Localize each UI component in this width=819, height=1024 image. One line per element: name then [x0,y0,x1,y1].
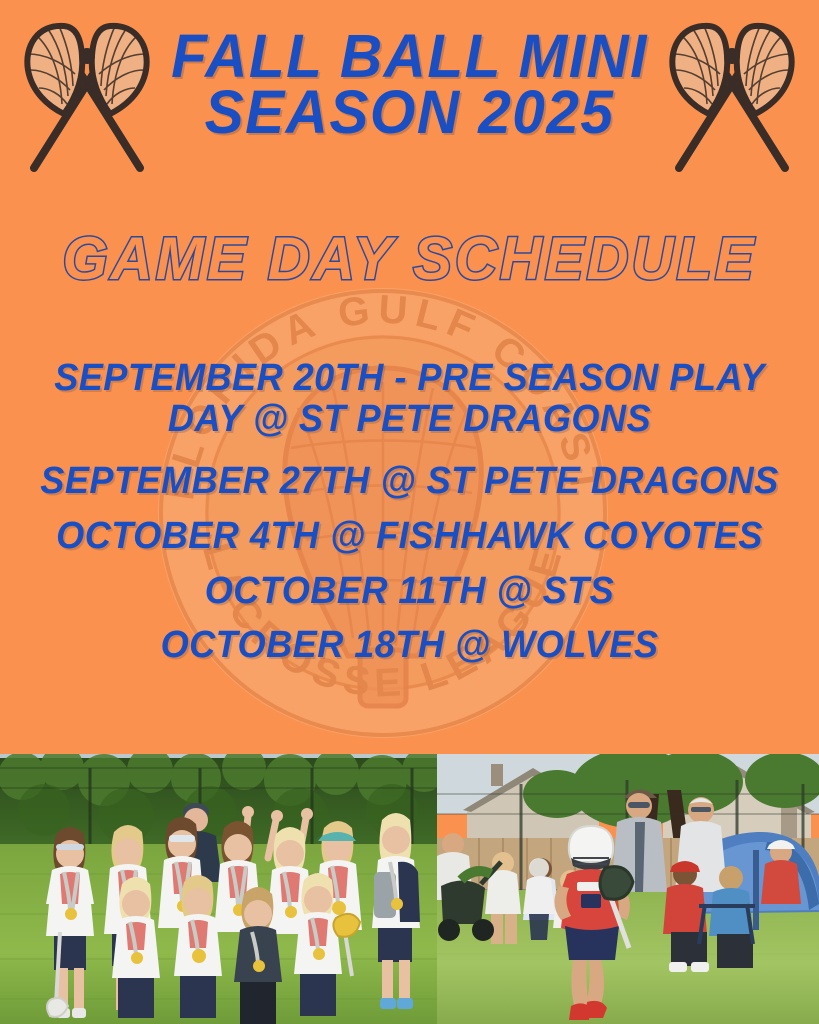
game-entry: SEPTEMBER 20TH - PRE SEASON PLAY DAY @ S… [0,358,819,439]
game-line: OCTOBER 11TH @ STS [20,571,798,612]
game-schedule-list: SEPTEMBER 20TH - PRE SEASON PLAY DAY @ S… [0,358,819,680]
game-line: OCTOBER 4TH @ FISHHAWK COYOTES [20,516,798,557]
game-line: DAY @ ST PETE DRAGONS [20,399,798,440]
game-entry: OCTOBER 4TH @ FISHHAWK COYOTES [0,516,819,557]
title-line-1: FALL BALL MINI [16,28,802,84]
game-line: OCTOBER 18TH @ WOLVES [20,625,798,666]
player-running-photo [437,754,819,1024]
title-line-2: SEASON 2025 [16,84,802,140]
game-line: SEPTEMBER 20TH - PRE SEASON PLAY [20,358,798,399]
schedule-heading: GAME DAY SCHEDULE [12,224,806,293]
poster-title: FALL BALL MINI SEASON 2025 [0,28,819,140]
photo-strip [0,754,819,1024]
game-line: SEPTEMBER 27TH @ ST PETE DRAGONS [20,461,798,502]
game-entry: SEPTEMBER 27TH @ ST PETE DRAGONS [0,461,819,502]
game-entry: OCTOBER 18TH @ WOLVES [0,625,819,666]
game-entry: OCTOBER 11TH @ STS [0,571,819,612]
team-photo-with-medals [0,754,437,1024]
poster-canvas: FLORIDA GULF COAST LACROSSE LEAGUE [0,0,819,1024]
